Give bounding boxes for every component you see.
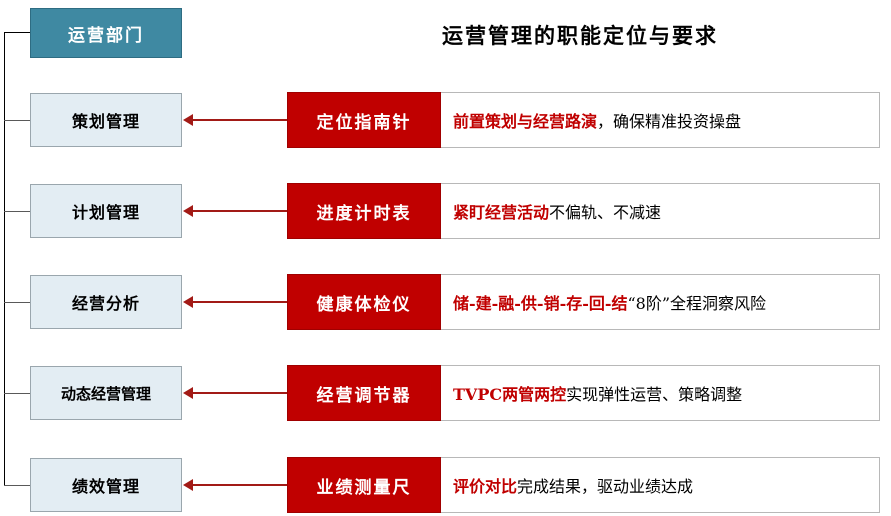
tree-connector-root xyxy=(4,32,31,33)
arrow-head-icon-row-1 xyxy=(183,114,193,126)
description-rest-row-2: 不偏轨、不减速 xyxy=(549,199,661,223)
slide-canvas: 运营管理的职能定位与要求 运营部门 策划管理 定位指南针 前置策划与经营路演，确… xyxy=(0,0,891,516)
description-rest-row-3: “8阶”全程洞察风险 xyxy=(628,290,767,314)
arrow-head-icon-row-5 xyxy=(183,479,193,491)
role-box-row-4[interactable]: 经营调节器 xyxy=(287,365,441,421)
function-box-row-4[interactable]: 动态经营管理 xyxy=(30,366,182,420)
tree-connector-row-3 xyxy=(4,302,31,303)
function-box-row-5[interactable]: 绩效管理 xyxy=(30,458,182,512)
arrow-head-icon-row-4 xyxy=(183,387,193,399)
description-emphasis-row-5: 评价对比 xyxy=(453,473,517,497)
root-node-operations-department[interactable]: 运营部门 xyxy=(30,8,182,58)
tree-connector-row-1 xyxy=(4,120,31,121)
description-box-row-4: TVPC两管两控实现弹性运营、策略调整 xyxy=(441,365,880,421)
description-rest-row-4: 实现弹性运营、策略调整 xyxy=(566,381,742,405)
description-emphasis-row-2: 紧盯经营活动 xyxy=(453,199,549,223)
tree-connector-row-2 xyxy=(4,211,31,212)
function-box-row-2[interactable]: 计划管理 xyxy=(30,184,182,238)
description-rest-row-1: ，确保精准投资操盘 xyxy=(597,108,741,132)
tree-connector-row-4 xyxy=(4,393,31,394)
role-box-row-5[interactable]: 业绩测量尺 xyxy=(287,457,441,513)
arrow-shaft-row-2 xyxy=(192,210,287,212)
page-title: 运营管理的职能定位与要求 xyxy=(300,20,860,50)
role-box-row-1[interactable]: 定位指南针 xyxy=(287,92,441,148)
arrow-shaft-row-5 xyxy=(192,484,287,486)
description-rest-row-5: 完成结果，驱动业绩达成 xyxy=(517,473,693,497)
arrow-head-icon-row-2 xyxy=(183,205,193,217)
description-box-row-3: 储-建-融-供-销-存-回-结“8阶”全程洞察风险 xyxy=(441,274,880,330)
description-box-row-1: 前置策划与经营路演，确保精准投资操盘 xyxy=(441,92,880,148)
description-emphasis-row-3: 储-建-融-供-销-存-回-结 xyxy=(453,290,628,314)
function-box-row-1[interactable]: 策划管理 xyxy=(30,93,182,147)
role-box-row-2[interactable]: 进度计时表 xyxy=(287,183,441,239)
arrow-shaft-row-4 xyxy=(192,392,287,394)
arrow-shaft-row-1 xyxy=(192,119,287,121)
description-box-row-2: 紧盯经营活动不偏轨、不减速 xyxy=(441,183,880,239)
tree-connector-row-5 xyxy=(4,485,31,486)
arrow-head-icon-row-3 xyxy=(183,296,193,308)
arrow-shaft-row-3 xyxy=(192,301,287,303)
role-box-row-3[interactable]: 健康体检仪 xyxy=(287,274,441,330)
description-box-row-5: 评价对比完成结果，驱动业绩达成 xyxy=(441,457,880,513)
function-box-row-3[interactable]: 经营分析 xyxy=(30,275,182,329)
description-emphasis-row-1: 前置策划与经营路演 xyxy=(453,108,597,132)
tree-trunk-line xyxy=(4,32,5,485)
description-emphasis-row-4: TVPC两管两控 xyxy=(453,381,566,405)
